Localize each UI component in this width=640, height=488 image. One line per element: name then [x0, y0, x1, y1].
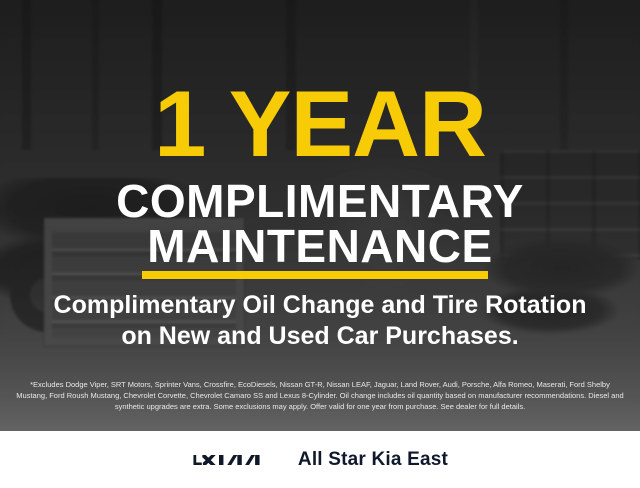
subheadline-line-2: on New and Used Car Purchases.: [20, 321, 620, 352]
kia-wordmark-logo-icon: [192, 450, 276, 470]
yellow-divider-rule: [142, 271, 488, 279]
subheadline-line-1: Complimentary Oil Change and Tire Rotati…: [20, 290, 620, 321]
dealer-name-label: All Star Kia East: [298, 449, 448, 471]
headline-one-year: 1 YEAR: [0, 76, 640, 172]
footer-brand-bar: All Star Kia East: [0, 431, 640, 488]
disclaimer-text: *Excludes Dodge Viper, SRT Motors, Sprin…: [16, 379, 624, 412]
headline-complimentary: COMPLIMENTARY: [0, 177, 640, 225]
headline-maintenance: MAINTENANCE: [0, 222, 640, 270]
kia-maintenance-ad-banner: 1 YEAR COMPLIMENTARY MAINTENANCE Complim…: [0, 0, 640, 488]
hero-copy-block: 1 YEAR COMPLIMENTARY MAINTENANCE Complim…: [0, 0, 640, 431]
subheadline-block: Complimentary Oil Change and Tire Rotati…: [20, 290, 620, 352]
